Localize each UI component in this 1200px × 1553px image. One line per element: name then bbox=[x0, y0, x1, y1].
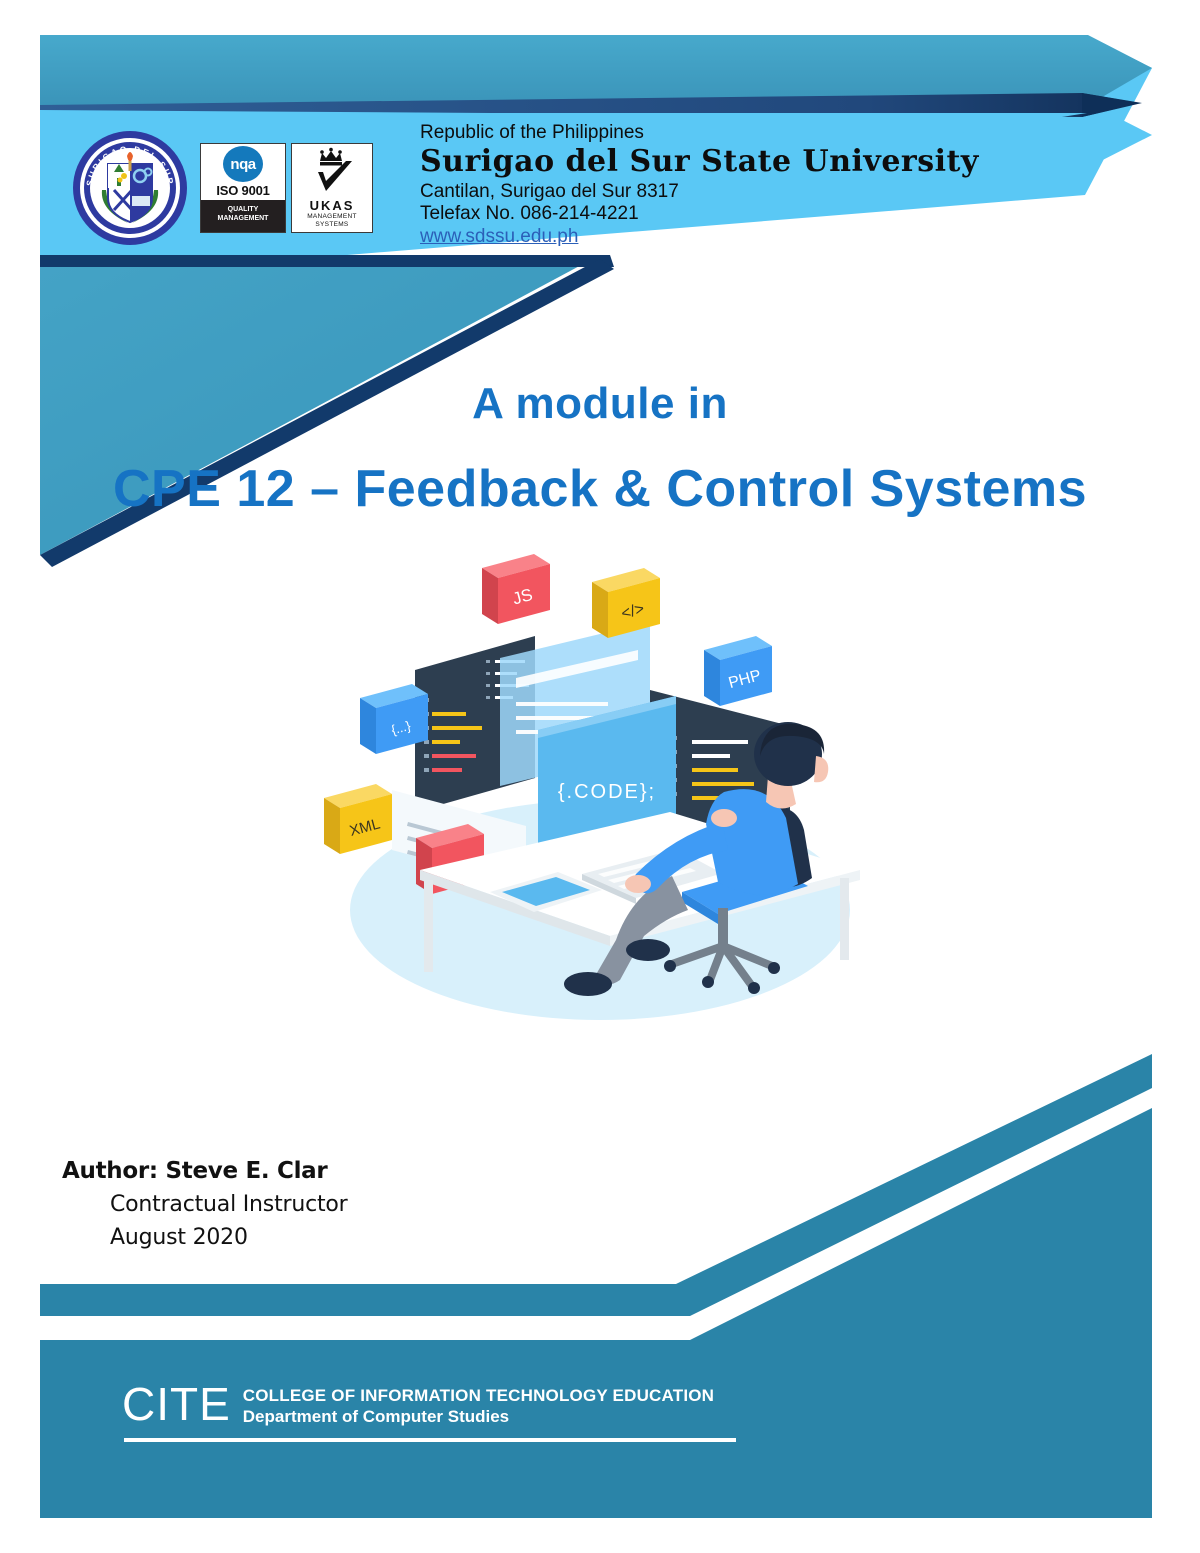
badge-js: JS bbox=[482, 554, 550, 624]
cite-footer: CITE COLLEGE OF INFORMATION TECHNOLOGY E… bbox=[122, 1382, 714, 1427]
cite-names: COLLEGE OF INFORMATION TECHNOLOGY EDUCAT… bbox=[243, 1382, 714, 1427]
badge-php: PHP bbox=[704, 636, 772, 706]
college-name: COLLEGE OF INFORMATION TECHNOLOGY EDUCAT… bbox=[243, 1386, 714, 1406]
bottom-banner-graphic bbox=[0, 1040, 1200, 1540]
university-seal-icon: SURIGAO DEL SUR STATE UNIVERSITY bbox=[70, 128, 190, 248]
module-title-line2: CPE 12 – Feedback & Control Systems bbox=[0, 458, 1200, 520]
institution-header-text: Republic of the Philippines Surigao del … bbox=[420, 122, 979, 248]
certification-logos: nqa ISO 9001 QUALITY MANAGEMENT bbox=[200, 143, 373, 233]
republic-line: Republic of the Philippines bbox=[420, 122, 979, 144]
ukas-brand-label: UKAS bbox=[310, 198, 355, 213]
university-name: Surigao del Sur State University bbox=[420, 145, 979, 180]
iso-scope-label: QUALITY MANAGEMENT bbox=[201, 200, 285, 232]
cite-logo: CITE bbox=[122, 1382, 231, 1426]
iso-9001-logo-icon: nqa ISO 9001 QUALITY MANAGEMENT bbox=[200, 143, 286, 233]
crown-check-icon bbox=[304, 147, 360, 197]
department-name: Department of Computer Studies bbox=[243, 1406, 714, 1427]
header-logos: SURIGAO DEL SUR STATE UNIVERSITY bbox=[70, 128, 373, 248]
monitor-code-text: {.CODE}; bbox=[558, 781, 656, 803]
university-address: Cantilan, Surigao del Sur 8317 bbox=[420, 181, 979, 203]
iso-standard-label: ISO 9001 bbox=[216, 183, 269, 198]
module-title-line1: A module in bbox=[0, 378, 1200, 430]
nqa-brand-label: nqa bbox=[223, 146, 263, 182]
title-block: A module in CPE 12 – Feedback & Control … bbox=[0, 378, 1200, 520]
university-website-link[interactable]: www.sdssu.edu.ph bbox=[420, 226, 979, 248]
badge-xml: XML bbox=[324, 784, 392, 854]
university-telefax: Telefax No. 086-214-4221 bbox=[420, 203, 979, 225]
document-cover-page: SURIGAO DEL SUR STATE UNIVERSITY bbox=[0, 0, 1200, 1553]
programmer-illustration: {.CODE}; {...} bbox=[320, 540, 880, 1040]
footer-divider bbox=[124, 1438, 736, 1442]
ukas-logo-icon: UKAS MANAGEMENT SYSTEMS bbox=[291, 143, 373, 233]
ukas-scope-label: MANAGEMENT SYSTEMS bbox=[307, 213, 357, 229]
